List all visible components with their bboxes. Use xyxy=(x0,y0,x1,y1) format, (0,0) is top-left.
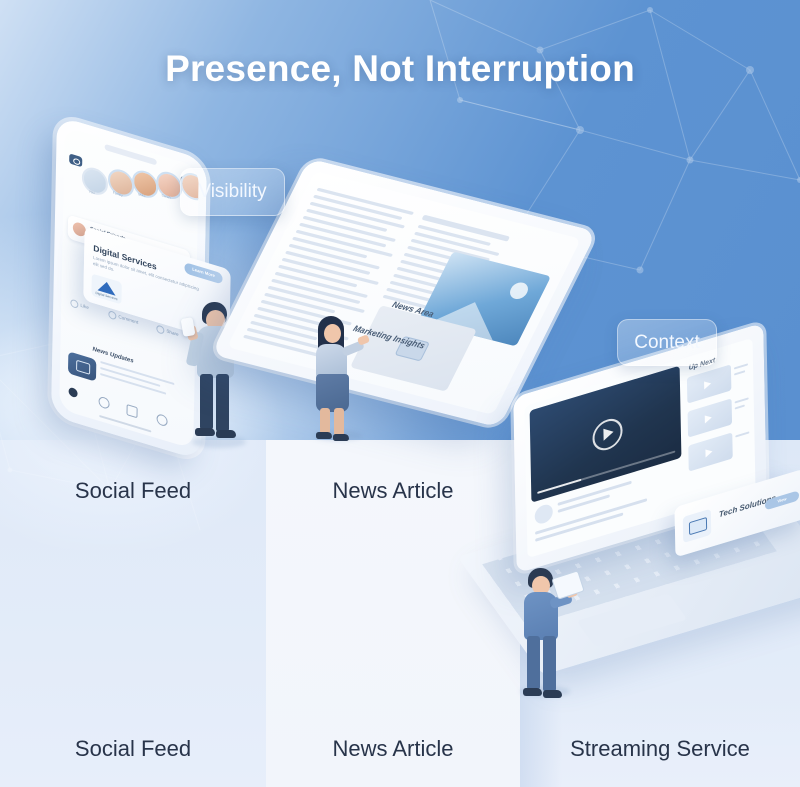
like-icon[interactable] xyxy=(70,299,78,309)
news-thumbnail xyxy=(68,351,96,381)
chip-context-label: Context xyxy=(634,332,699,354)
view-button[interactable]: View xyxy=(765,490,799,510)
share-icon[interactable] xyxy=(156,324,164,334)
up-next-panel: Up Next xyxy=(685,345,752,490)
held-phone xyxy=(181,317,196,337)
comment-icon[interactable] xyxy=(108,310,116,320)
mid-label-news-article: News Article xyxy=(266,478,520,504)
profile-icon[interactable] xyxy=(156,413,167,427)
article-text-column-left xyxy=(318,188,414,212)
brand-logo-label: Digital Services xyxy=(91,290,121,303)
monitor-icon xyxy=(683,509,712,543)
home-icon[interactable] xyxy=(69,387,78,399)
chip-visibility-label: Visibility xyxy=(198,181,266,203)
search-icon[interactable] xyxy=(98,396,109,410)
bottom-label-streaming-service: Streaming Service xyxy=(520,736,800,762)
learn-more-button[interactable]: Learn More xyxy=(184,262,222,284)
video-player[interactable] xyxy=(530,366,682,503)
article-text-column-right xyxy=(424,215,510,237)
learn-more-label: Learn More xyxy=(184,264,222,280)
person-news-article xyxy=(310,316,372,444)
channel-avatar xyxy=(535,502,553,525)
bookmark-icon[interactable] xyxy=(126,404,137,418)
chip-visibility[interactable]: Visibility xyxy=(180,168,285,216)
bottom-label-social-feed: Social Feed xyxy=(0,736,266,762)
reaction-label[interactable]: Share xyxy=(166,328,178,337)
news-updates-title: News Updates xyxy=(93,347,134,365)
up-next-thumbnail[interactable] xyxy=(688,432,733,471)
held-tablet xyxy=(551,570,584,600)
bottom-label-news-article: News Article xyxy=(266,736,520,762)
person-streaming-service xyxy=(516,568,582,698)
chip-context[interactable]: Context xyxy=(617,319,717,366)
page-title: Presence, Not Interruption xyxy=(0,48,800,90)
brand-logo-icon: Digital Services xyxy=(91,274,121,305)
play-icon[interactable] xyxy=(592,415,623,454)
infographic-canvas: Presence, Not Interruption You Family Mi… xyxy=(0,0,800,787)
up-next-thumbnail[interactable] xyxy=(688,398,733,437)
mid-label-social-feed: Social Feed xyxy=(0,478,266,504)
reaction-label[interactable]: Like xyxy=(80,303,89,311)
